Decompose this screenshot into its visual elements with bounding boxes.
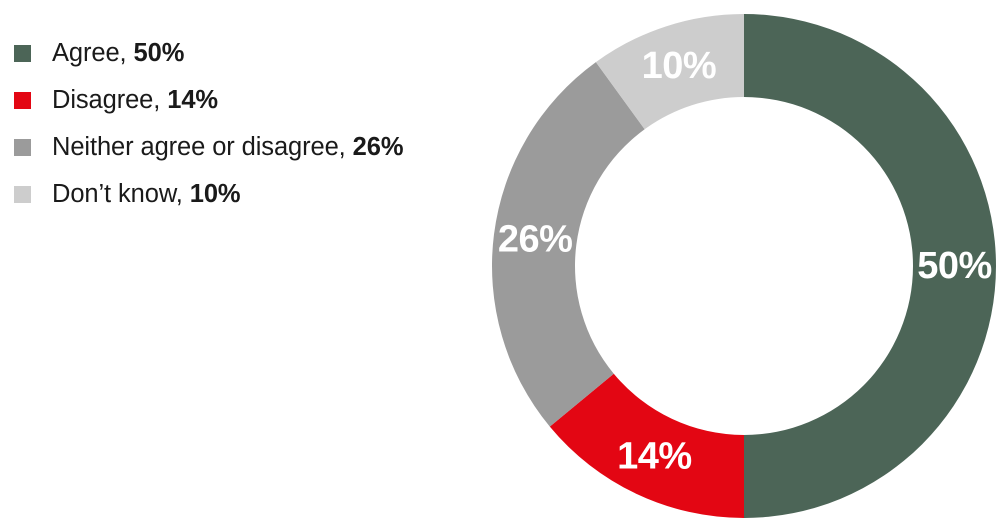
donut-slice-label: 10% [642,45,717,87]
legend-label-value: 14% [167,86,218,114]
donut-slice-label: 26% [498,219,573,261]
legend-label-text: Neither agree or disagree, [52,133,346,161]
legend-item-agree: Agree, 50% [14,30,484,77]
legend-label-text: Don’t know, [52,180,183,208]
chart-legend: Agree, 50% Disagree, 14% Neither agree o… [14,30,484,218]
legend-label-value: 26% [353,133,404,161]
legend-swatch-neither-agree-or-disagree [14,139,31,156]
donut-chart-svg: 50%14%26%10% [492,14,996,518]
legend-swatch-dont-know [14,186,31,203]
legend-label-text: Agree, [52,39,127,67]
legend-item-neither-agree-or-disagree: Neither agree or disagree, 26% [14,124,484,171]
legend-label-disagree: Disagree, 14% [52,88,218,114]
legend-label-text: Disagree, [52,86,160,114]
legend-swatch-agree [14,45,31,62]
legend-item-disagree: Disagree, 14% [14,77,484,124]
donut-chart: 50%14%26%10% [492,14,996,518]
legend-item-dont-know: Don’t know, 10% [14,171,484,218]
donut-slice-label: 50% [917,245,992,287]
legend-label-value: 50% [134,39,185,67]
legend-label-neither-agree-or-disagree: Neither agree or disagree, 26% [52,135,403,161]
legend-label-agree: Agree, 50% [52,41,184,67]
legend-label-dont-know: Don’t know, 10% [52,182,240,208]
legend-swatch-disagree [14,92,31,109]
legend-label-value: 10% [190,180,241,208]
donut-slice-label: 14% [617,435,692,477]
